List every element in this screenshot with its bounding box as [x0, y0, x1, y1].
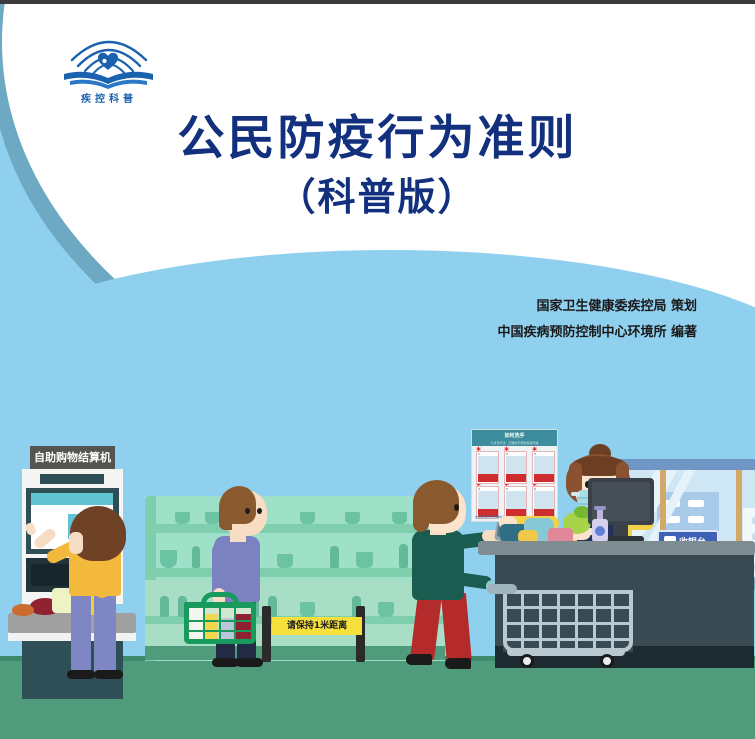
- sanitizer-label: [595, 526, 605, 536]
- grocery-item: [12, 604, 34, 616]
- logo-icon: [58, 28, 160, 92]
- logo-text: 疾控科普: [58, 90, 160, 105]
- top-rule: [0, 0, 755, 4]
- handwashing-poster: 如何洗手 七步洗手法 · 正确洗手预防疾病传播 ✱ ✱ ✱ ✱ ✱ ✱ 1 2 …: [471, 429, 558, 522]
- social-distance-tape: 请保持1米距离: [272, 617, 362, 635]
- poster-subtitle: 七步洗手法 · 正确洗手预防疾病传播: [472, 441, 557, 445]
- page-subtitle: （科普版）: [0, 172, 755, 223]
- shelf-product: [330, 546, 339, 568]
- credits-block: 国家卫生健康委疾控局 策划 中国疾病预防控制中心环境所 编著: [497, 294, 697, 346]
- credit-line-author: 中国疾病预防控制中心环境所 编著: [497, 320, 697, 346]
- shelf-product: [160, 550, 177, 568]
- credit-line-planner: 国家卫生健康委疾控局 策划: [497, 294, 697, 320]
- cover-panel: 疾控科普 公民防疫行为准则 （科普版） 国家卫生健康委疾控局 策划 中国疾病预防…: [0, 0, 755, 430]
- shopper-self-checkout: [50, 506, 140, 666]
- shelf-product: [345, 512, 360, 524]
- handwash-step: 2: [504, 451, 527, 484]
- self-checkout-topbar: [40, 474, 104, 484]
- shelf-product: [356, 552, 373, 568]
- shopping-cart: [495, 572, 645, 668]
- cart-wheel: [520, 654, 534, 668]
- poster-title: 如何洗手: [472, 430, 557, 441]
- social-distance-label: 请保持1米距离: [272, 617, 362, 635]
- self-checkout-sign-label: 自助购物结算机: [30, 446, 115, 469]
- cdc-logo: 疾控科普: [58, 28, 160, 114]
- self-checkout-screen-header: [31, 493, 113, 505]
- shelf-product: [175, 512, 190, 524]
- handwash-step: 1: [476, 451, 499, 484]
- handwash-step: 5: [504, 486, 527, 519]
- shelf-product: [277, 554, 293, 568]
- shelf-product: [378, 602, 394, 617]
- cover-illustration: 自助购物结算机 请保持1米距离: [0, 420, 755, 739]
- title-block: 公民防疫行为准则 （科普版）: [0, 113, 755, 223]
- checkout-counter-top: [478, 541, 755, 555]
- self-checkout-sign: 自助购物结算机: [30, 446, 115, 469]
- cart-wheel: [600, 654, 614, 668]
- shelf-product: [300, 512, 315, 524]
- shelf-product: [160, 596, 169, 617]
- shopping-basket: [184, 592, 256, 644]
- page-title: 公民防疫行为准则: [0, 113, 755, 166]
- shelf-product: [300, 602, 315, 617]
- poster-header: 如何洗手 七步洗手法 · 正确洗手预防疾病传播: [472, 430, 557, 446]
